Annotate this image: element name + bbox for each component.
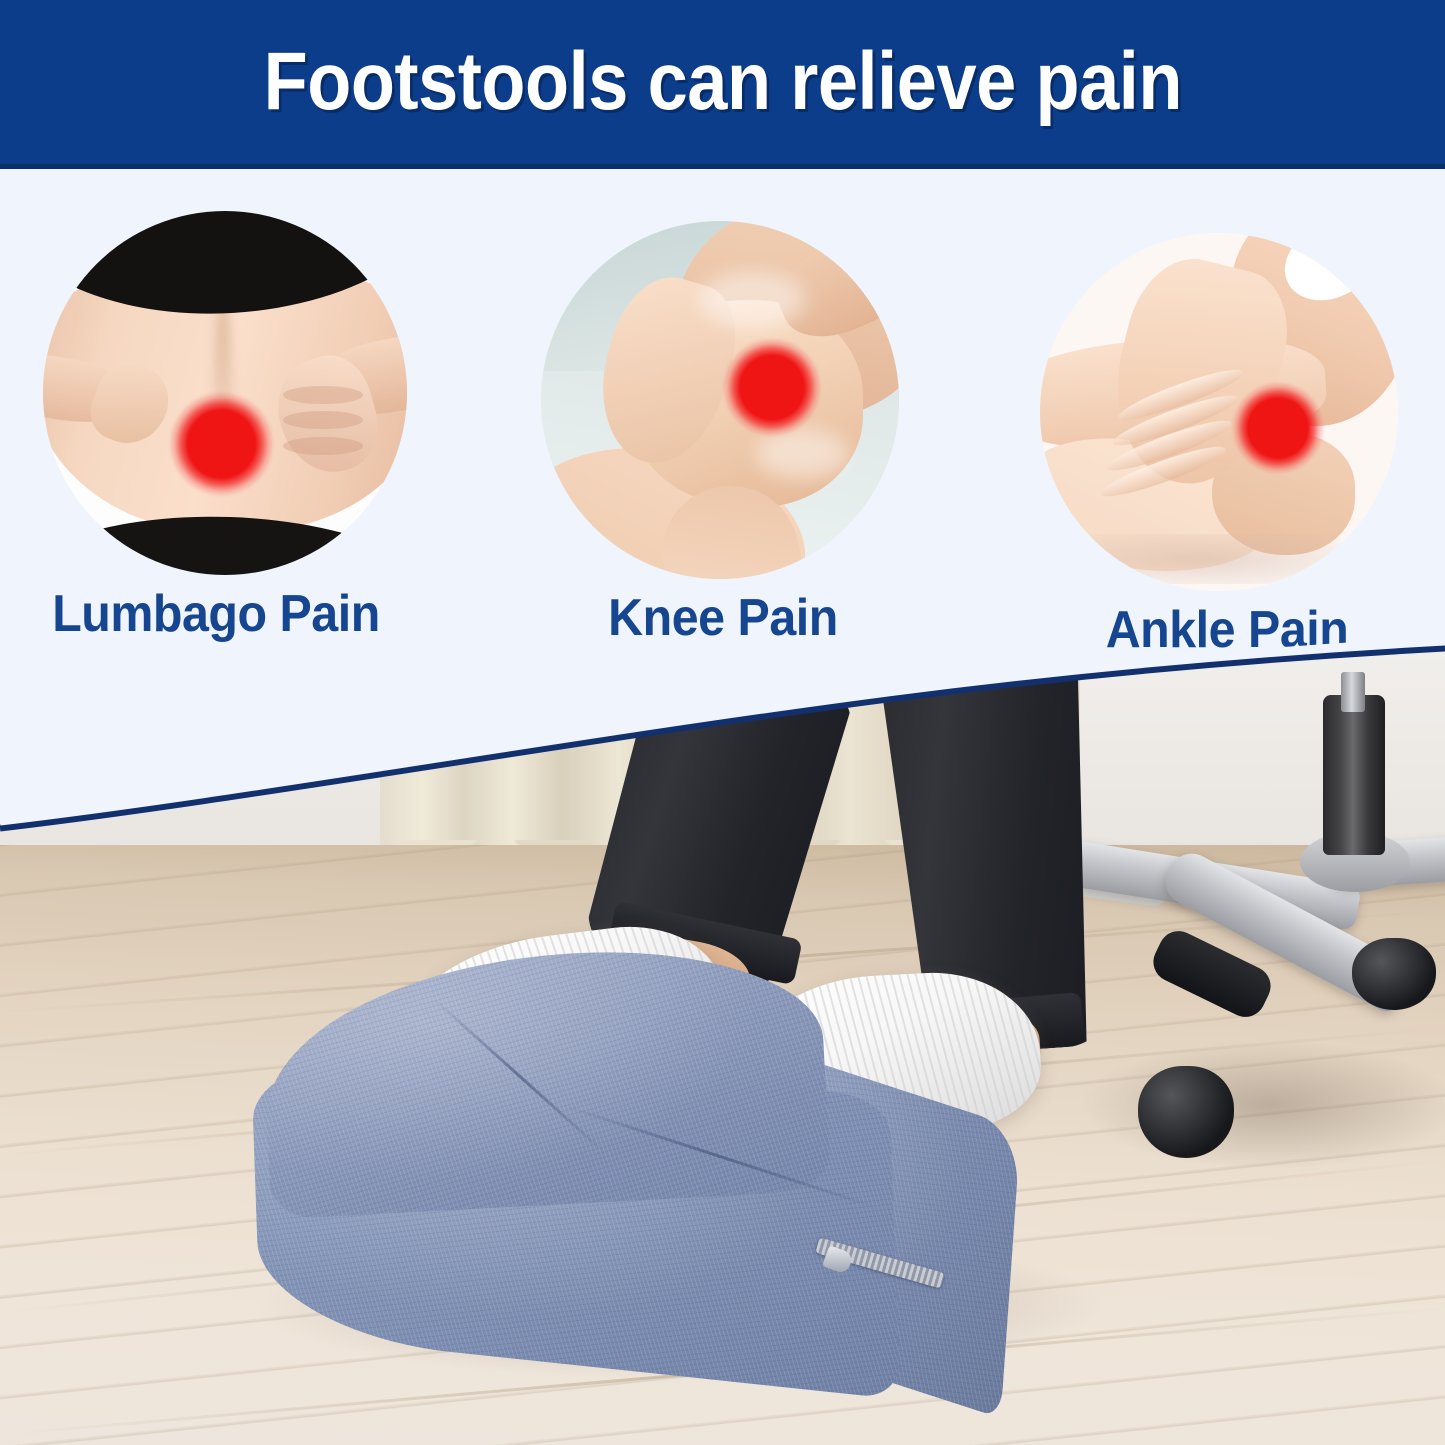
- chair-caster-wheel: [1352, 938, 1436, 1010]
- knee-pain-photo: [541, 221, 899, 579]
- pain-dot-knee: [720, 336, 824, 440]
- pain-dot-lower-back: [167, 389, 276, 498]
- product-marketing-image: Footstools can relieve pain: [0, 0, 1445, 1445]
- pain-card-label-knee: Knee Pain: [554, 591, 893, 646]
- pain-card-lumbago: Lumbago Pain: [43, 211, 407, 642]
- chair-piston-rod: [1341, 672, 1365, 712]
- pain-card-knee: Knee Pain: [541, 221, 905, 646]
- pain-cards-row: Lumbago Pain: [0, 169, 1445, 689]
- chair-caster-wheel: [1138, 1066, 1234, 1158]
- cushion-top-surface: [259, 941, 831, 1220]
- pain-card-label-lumbago: Lumbago Pain: [38, 587, 393, 642]
- ankle-illustration: [1040, 233, 1398, 591]
- header-banner: Footstools can relieve pain: [0, 0, 1445, 164]
- page-title: Footstools can relieve pain: [263, 41, 1181, 123]
- footstool-cushion: [255, 955, 1055, 1335]
- chair-gas-cylinder: [1323, 695, 1385, 855]
- pain-dot-ankle: [1230, 380, 1327, 477]
- ankle-pain-photo: [1040, 233, 1398, 591]
- knee-illustration: [541, 221, 899, 579]
- pain-card-ankle: Ankle Pain: [1040, 233, 1404, 658]
- lower-back-pain-photo: [43, 211, 407, 575]
- pain-card-label-ankle: Ankle Pain: [1062, 603, 1391, 658]
